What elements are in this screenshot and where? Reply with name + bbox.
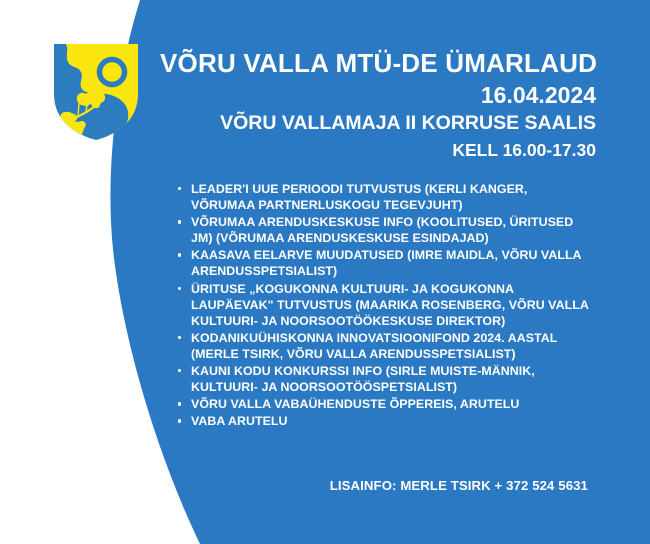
list-item: VABA ARUTELU (176, 413, 592, 429)
poster-header: VÕRU VALLA MTÜ-DE ÜMARLAUD 16.04.2024 VÕ… (160, 46, 596, 163)
event-time: KELL 16.00-17.30 (160, 137, 596, 163)
list-item: KAASAVA EELARVE MUUDATUSED (IMRE MAIDLA,… (176, 247, 592, 279)
bullet-icon (178, 220, 181, 223)
bullet-icon (178, 287, 181, 290)
bullet-icon (178, 419, 181, 422)
agenda-item-text: LEADER'I UUE PERIOODI TUTVUSTUS (KERLI K… (191, 182, 527, 212)
agenda-item-text: KODANIKUÜHISKONNA INNOVATSIOONIFOND 2024… (191, 331, 557, 361)
agenda-item-text: KAUNI KODU KONKURSSI INFO (SIRLE MUISTE-… (191, 364, 535, 394)
event-poster: VÕRU VALLA MTÜ-DE ÜMARLAUD 16.04.2024 VÕ… (0, 0, 650, 544)
agenda-item-text: KAASAVA EELARVE MUUDATUSED (IMRE MAIDLA,… (191, 248, 581, 278)
agenda-item-text: VÕRU VALLA VABAÜHENDUSTE ÕPPEREIS, ARUTE… (191, 397, 519, 411)
bullet-icon (178, 187, 181, 190)
list-item: ÜRITUSE „KOGUKONNA KULTUURI- JA KOGUKONN… (176, 281, 592, 329)
bullet-icon (178, 369, 181, 372)
agenda-item-text: VABA ARUTELU (191, 414, 288, 428)
list-item: VÕRU VALLA VABAÜHENDUSTE ÕPPEREIS, ARUTE… (176, 396, 592, 412)
bullet-icon (178, 336, 181, 339)
list-item: VÕRUMAA ARENDUSKESKUSE INFO (KOOLITUSED,… (176, 214, 592, 246)
agenda-item-text: VÕRUMAA ARENDUSKESKUSE INFO (KOOLITUSED,… (191, 215, 573, 245)
agenda-item-text: ÜRITUSE „KOGUKONNA KULTUURI- JA KOGUKONN… (191, 282, 588, 328)
contact-info: LISAINFO: MERLE TSIRK + 372 524 5631 (160, 478, 588, 493)
event-venue: VÕRU VALLAMAJA II KORRUSE SAALIS (160, 110, 596, 137)
bullet-icon (178, 253, 181, 256)
list-item: LEADER'I UUE PERIOODI TUTVUSTUS (KERLI K… (176, 181, 592, 213)
list-item: KODANIKUÜHISKONNA INNOVATSIOONIFOND 2024… (176, 330, 592, 362)
agenda-list: LEADER'I UUE PERIOODI TUTVUSTUS (KERLI K… (176, 181, 592, 430)
list-item: KAUNI KODU KONKURSSI INFO (SIRLE MUISTE-… (176, 363, 592, 395)
bullet-icon (178, 402, 181, 405)
page-title: VÕRU VALLA MTÜ-DE ÜMARLAUD (160, 46, 596, 80)
event-date: 16.04.2024 (160, 80, 596, 110)
coat-of-arms-icon (52, 42, 140, 142)
